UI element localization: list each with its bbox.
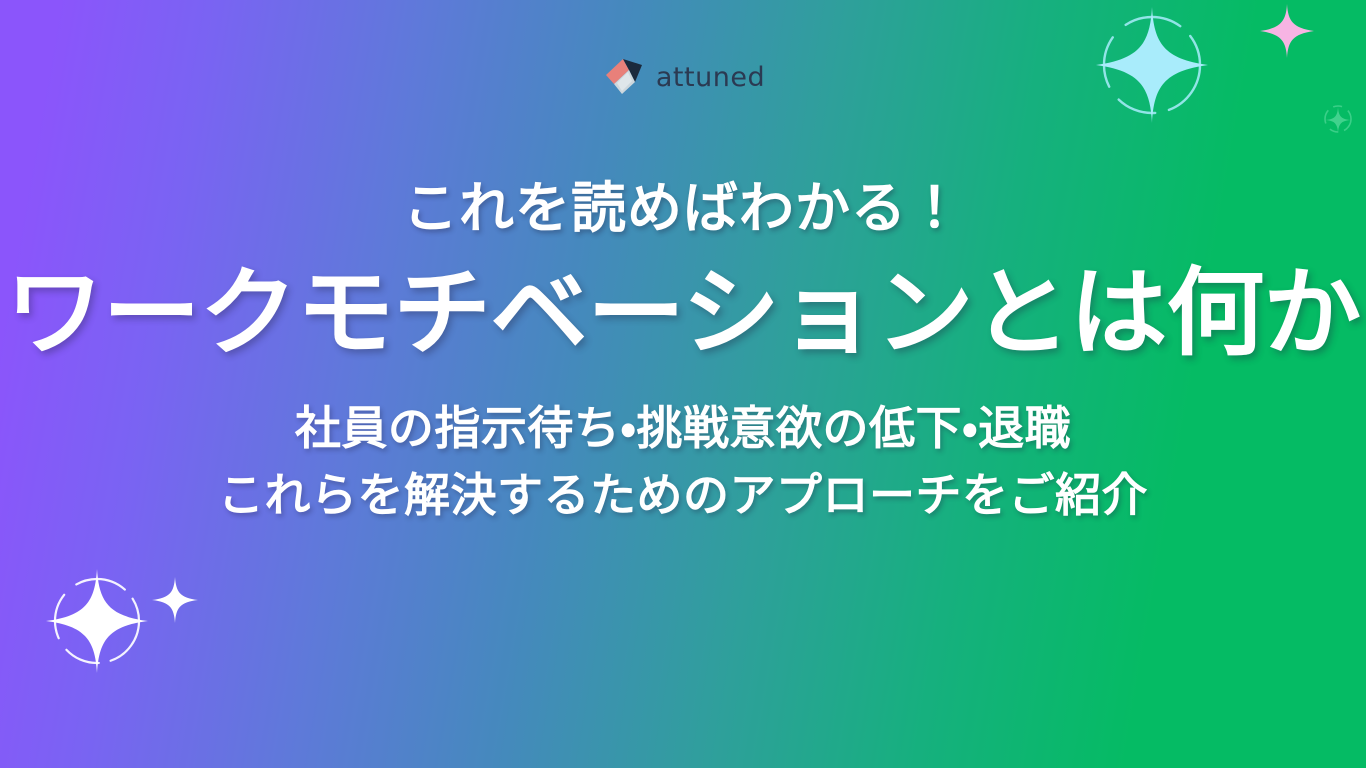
hero-subtitle: 社員の指示待ち・挑戦意欲の低下・退職 これらを解決するためのアプローチをご紹介 [0,395,1366,528]
brand-logo[interactable]: attuned [0,52,1366,100]
hero-banner: attuned これを読めばわかる！ ワークモチベーションとは何か 社員の指示待… [0,0,1366,768]
hero-subtitle-line-2: これらを解決するためのアプローチをご紹介 [0,462,1366,529]
attuned-diamond-logo-icon [601,52,649,100]
brand-wordmark: attuned [656,64,765,91]
hero-subtitle-line-1: 社員の指示待ち・挑戦意欲の低下・退職 [295,402,1071,454]
hero-eyebrow: これを読めばわかる！ [0,178,1366,240]
sparkle-star-white-bottom-left-icon [42,566,152,676]
hero-headline: ワークモチベーションとは何か [0,260,1366,368]
sparkle-star-white-small-bottom-left-icon [150,575,200,625]
hero-copy: これを読めばわかる！ ワークモチベーションとは何か 社員の指示待ち・挑戦意欲の低… [0,178,1366,528]
sparkle-star-edge-right-icon [1320,100,1360,140]
